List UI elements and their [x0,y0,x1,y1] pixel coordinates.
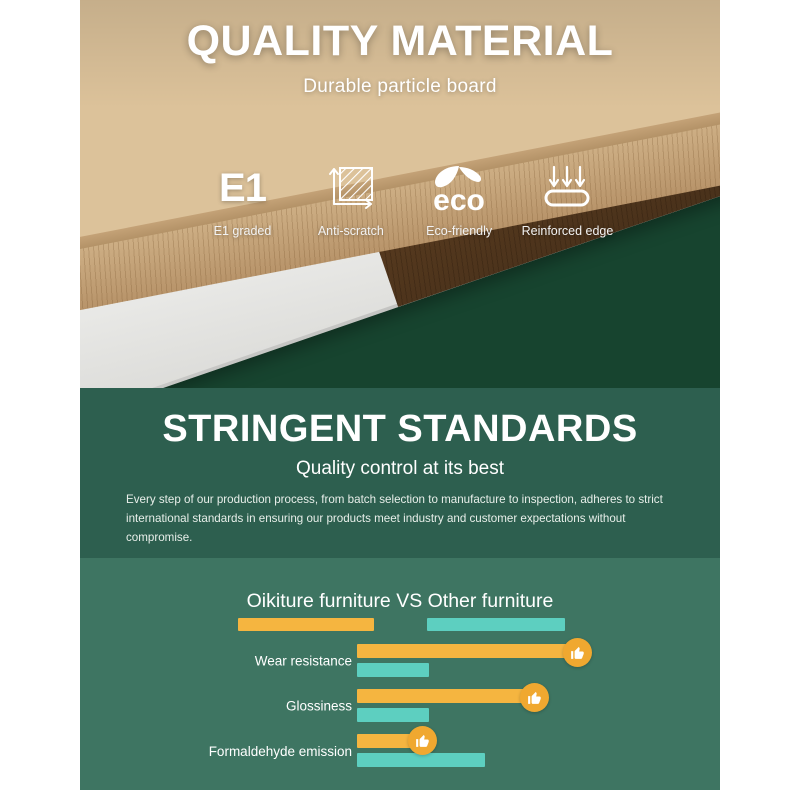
feature-e1-graded: E1 E1 graded [190,160,295,240]
thumbs-up-badge [408,726,437,755]
reinforced-edge-icon [540,160,594,216]
chart-rows: Wear resistance Glossiness [80,640,720,775]
chart-row-label: Wear resistance [172,653,352,670]
chart-row-wear-resistance: Wear resistance [80,640,720,683]
chart-row-bars [357,689,527,722]
feature-label-eco-friendly: Eco-friendly [426,224,492,240]
bar-oikiture [357,734,415,748]
comparison-chart-panel: Oikiture furniture VS Other furniture We… [80,558,720,790]
chart-row-bars [357,644,570,677]
eco-leaf-icon: eco [423,160,495,216]
e1-grade-text: E1 [219,168,266,208]
feature-reinforced-edge: Reinforced edge [515,160,620,240]
feature-label-e1-graded: E1 graded [214,224,272,240]
chart-title: Oikiture furniture VS Other furniture [80,590,720,613]
hero-photo-panel: QUALITY MATERIAL Durable particle board … [80,0,720,388]
chart-legend [80,618,720,632]
chart-row-formaldehyde-emission: Formaldehyde emission [80,730,720,773]
hero-title: QUALITY MATERIAL [80,20,720,63]
chart-row-glossiness: Glossiness [80,685,720,728]
standards-body-text: Every step of our production process, fr… [126,491,682,547]
legend-swatch-oikiture [238,618,374,631]
feature-label-anti-scratch: Anti-scratch [318,224,384,240]
chart-row-label: Formaldehyde emission [172,743,352,759]
feature-eco-friendly: eco Eco-friendly [407,160,512,240]
product-infographic: QUALITY MATERIAL Durable particle board … [0,0,800,800]
hero-subtitle: Durable particle board [80,76,720,98]
standards-subtitle: Quality control at its best [80,458,720,480]
bar-other [357,663,429,677]
thumbs-up-badge [563,638,592,667]
bar-other [357,753,485,767]
thumbs-up-icon [569,644,586,661]
svg-text:eco: eco [433,184,485,214]
anti-scratch-icon [325,160,377,216]
infographic-content: QUALITY MATERIAL Durable particle board … [80,0,720,790]
standards-title: STRINGENT STANDARDS [80,410,720,448]
e1-grade-icon: E1 [219,160,266,216]
bar-other [357,708,429,722]
legend-swatch-other [427,618,565,631]
bar-oikiture [357,644,570,658]
bar-oikiture [357,689,527,703]
thumbs-up-badge [520,683,549,712]
feature-anti-scratch: Anti-scratch [298,160,403,240]
standards-panel: STRINGENT STANDARDS Quality control at i… [80,388,720,558]
feature-icon-row: E1 E1 graded [190,160,620,240]
feature-label-reinforced-edge: Reinforced edge [522,224,614,240]
thumbs-up-icon [526,689,543,706]
thumbs-up-icon [414,732,431,749]
chart-row-label: Glossiness [172,698,352,715]
